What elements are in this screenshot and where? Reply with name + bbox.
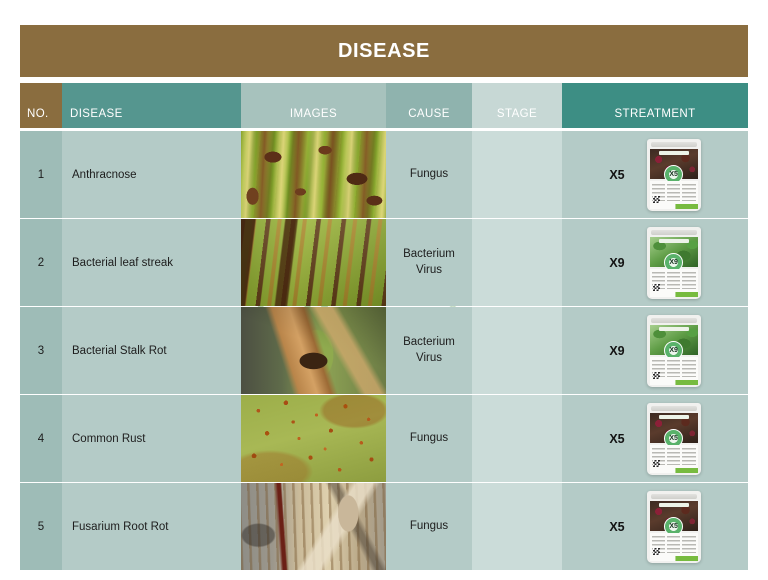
column-header-images[interactable]: IMAGES <box>241 83 386 128</box>
qr-code-icon <box>653 548 660 555</box>
product-pouch-x9: X9 <box>647 227 701 299</box>
disease-table: NO. DISEASE IMAGES CAUSE STAGE STREATMEN… <box>20 83 748 571</box>
cause-line-1: Bacterium <box>403 247 455 263</box>
disease-stage <box>472 131 562 218</box>
table-row[interactable]: 1 Anthracnose Fungus X5 X5 <box>20 131 748 218</box>
treatment-dose: X9 <box>609 256 624 270</box>
table-row[interactable]: 2 Bacterial leaf streak Bacterium Virus … <box>20 219 748 306</box>
disease-image-cell <box>241 219 386 306</box>
cause-line-1: Bacterium <box>403 335 455 351</box>
row-number: 5 <box>20 483 62 570</box>
column-header-streatment[interactable]: STREATMENT <box>562 83 748 128</box>
bacterial-leaf-streak-photo <box>241 219 386 306</box>
treatment-cell: X5 X5 <box>562 131 748 218</box>
bacterial-stalk-rot-photo <box>241 307 386 394</box>
disease-cause: Bacterium Virus <box>386 307 472 394</box>
treatment-dose: X5 <box>609 432 624 446</box>
table-header-row: NO. DISEASE IMAGES CAUSE STAGE STREATMEN… <box>20 83 748 128</box>
product-pouch-x5: X5 <box>647 491 701 563</box>
slide-canvas: beBio ® ENGFENON DISEASE NO. DISEASE IMA… <box>0 0 768 580</box>
disease-image-cell <box>241 307 386 394</box>
product-pouch-x5: X5 <box>647 139 701 211</box>
disease-name: Anthracnose <box>62 131 241 218</box>
qr-code-icon <box>653 460 660 467</box>
product-pouch-x9: X9 <box>647 315 701 387</box>
column-header-disease[interactable]: DISEASE <box>62 83 241 128</box>
disease-image-cell <box>241 395 386 482</box>
disease-name: Bacterial Stalk Rot <box>62 307 241 394</box>
row-number: 3 <box>20 307 62 394</box>
qr-code-icon <box>653 196 660 203</box>
qr-code-icon <box>653 372 660 379</box>
row-number: 1 <box>20 131 62 218</box>
table-row[interactable]: 4 Common Rust Fungus X5 X5 <box>20 395 748 482</box>
treatment-cell: X9 X9 <box>562 219 748 306</box>
cause-line-2: Virus <box>403 351 455 367</box>
qr-code-icon <box>653 284 660 291</box>
cause-line-2: Virus <box>403 263 455 279</box>
table-row[interactable]: 5 Fusarium Root Rot Fungus X5 X5 <box>20 483 748 570</box>
disease-stage <box>472 395 562 482</box>
page-title-bar: DISEASE <box>20 25 748 77</box>
fusarium-root-rot-photo <box>241 483 386 570</box>
disease-cause: Fungus <box>386 483 472 570</box>
column-header-stage[interactable]: STAGE <box>472 83 562 128</box>
disease-cause: Fungus <box>386 131 472 218</box>
treatment-dose: X5 <box>609 168 624 182</box>
row-number: 4 <box>20 395 62 482</box>
page-title: DISEASE <box>338 40 430 63</box>
disease-image-cell <box>241 131 386 218</box>
disease-name: Bacterial leaf streak <box>62 219 241 306</box>
treatment-cell: X9 X9 <box>562 307 748 394</box>
common-rust-photo <box>241 395 386 482</box>
treatment-cell: X5 X5 <box>562 483 748 570</box>
column-header-no[interactable]: NO. <box>20 83 62 128</box>
table-row[interactable]: 3 Bacterial Stalk Rot Bacterium Virus X9 <box>20 307 748 394</box>
column-header-cause[interactable]: CAUSE <box>386 83 472 128</box>
disease-cause: Bacterium Virus <box>386 219 472 306</box>
row-number: 2 <box>20 219 62 306</box>
disease-cause: Fungus <box>386 395 472 482</box>
disease-image-cell <box>241 483 386 570</box>
disease-name: Fusarium Root Rot <box>62 483 241 570</box>
product-pouch-x5: X5 <box>647 403 701 475</box>
disease-stage <box>472 307 562 394</box>
treatment-dose: X5 <box>609 520 624 534</box>
disease-stage <box>472 483 562 570</box>
anthracnose-leaf-photo <box>241 131 386 218</box>
treatment-dose: X9 <box>609 344 624 358</box>
disease-stage <box>472 219 562 306</box>
treatment-cell: X5 X5 <box>562 395 748 482</box>
disease-name: Common Rust <box>62 395 241 482</box>
